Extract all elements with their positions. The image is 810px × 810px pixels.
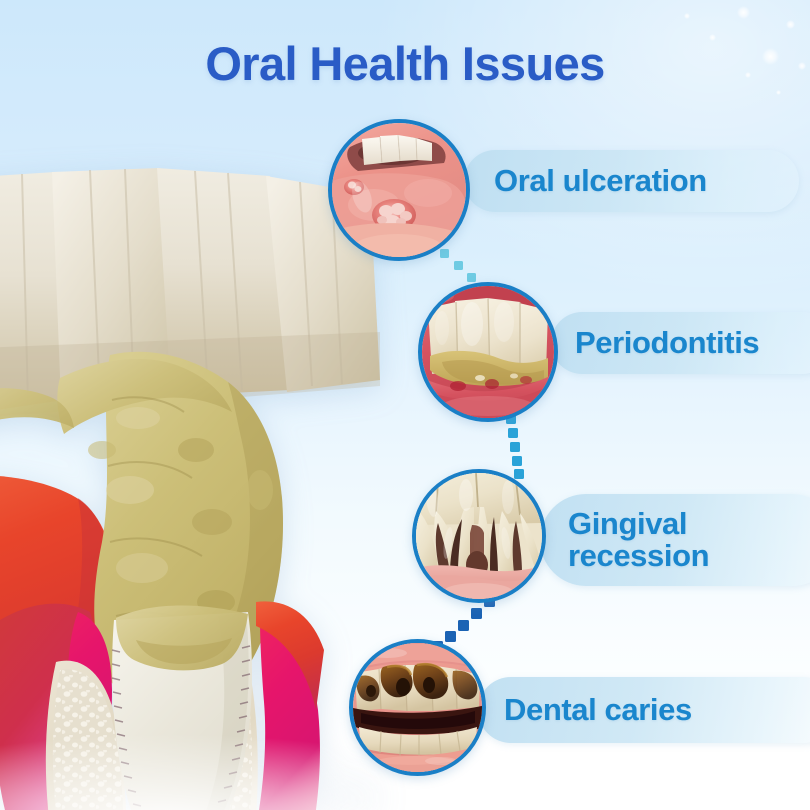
- sparkle-icon: [684, 13, 690, 19]
- dental-caries-photo: [353, 643, 482, 772]
- page-title: Oral Health Issues: [0, 36, 810, 91]
- periodontal-disease-illustration: [0, 150, 380, 810]
- oral-health-issues-poster: Oral Health Issues: [0, 0, 810, 810]
- sparkle-icon: [737, 6, 750, 19]
- photo-circle-gingival-recession[interactable]: [412, 469, 546, 603]
- label-pill-dental-caries[interactable]: Dental caries: [478, 677, 810, 743]
- oral-ulceration-photo: [332, 123, 466, 257]
- connector-periodontitis-recession: [492, 414, 542, 480]
- bokeh-icon: [560, 790, 574, 804]
- periodontitis-photo: [422, 286, 554, 418]
- photo-circle-oral-ulceration[interactable]: [328, 119, 470, 261]
- label-text-gingival-recession: Gingival recession: [568, 508, 709, 572]
- label-text-periodontitis: Periodontitis: [575, 327, 759, 359]
- label-text-dental-caries: Dental caries: [504, 694, 692, 726]
- label-pill-gingival-recession[interactable]: Gingival recession: [540, 494, 810, 586]
- bokeh-icon: [700, 782, 718, 800]
- gingival-recession-photo: [416, 473, 542, 599]
- sparkle-icon: [786, 20, 795, 29]
- photo-circle-dental-caries[interactable]: [349, 639, 486, 776]
- photo-circle-periodontitis[interactable]: [418, 282, 558, 422]
- label-text-oral-ulceration: Oral ulceration: [494, 165, 707, 197]
- label-pill-oral-ulceration[interactable]: Oral ulceration: [464, 150, 799, 212]
- label-pill-periodontitis[interactable]: Periodontitis: [551, 312, 810, 374]
- bokeh-icon: [640, 745, 670, 775]
